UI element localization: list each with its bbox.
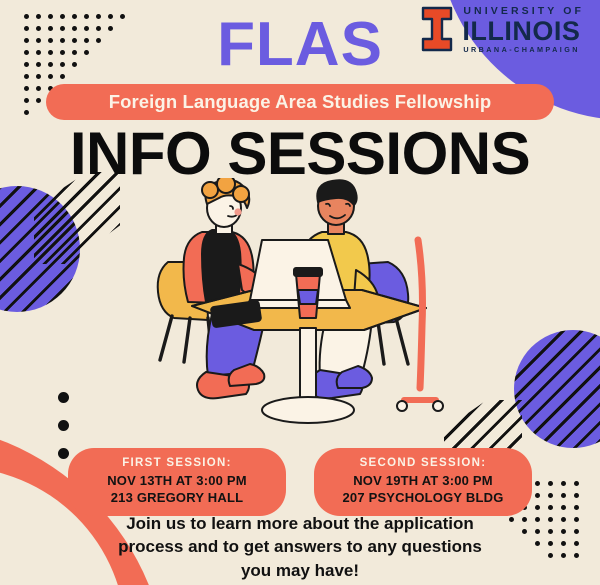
session-heading: SECOND SESSION: bbox=[334, 455, 512, 472]
decorative-dot bbox=[24, 98, 29, 103]
session-card-first: FIRST SESSION: NOV 13TH AT 3:00 PM 213 G… bbox=[68, 448, 286, 516]
decorative-dot bbox=[24, 110, 29, 115]
university-logo: UNIVERSITY OF ILLINOIS URBANA-CHAMPAIGN bbox=[420, 6, 584, 53]
purple-striped-circle-right bbox=[514, 330, 600, 448]
footer-line-2: process and to get answers to any questi… bbox=[76, 535, 524, 558]
footer-line-3: you may have! bbox=[76, 559, 524, 582]
decorative-dot bbox=[36, 86, 41, 91]
session-list: FIRST SESSION: NOV 13TH AT 3:00 PM 213 G… bbox=[0, 448, 600, 516]
decorative-dot bbox=[24, 86, 29, 91]
page-title: INFO SESSIONS bbox=[0, 122, 600, 185]
logo-campus-line: URBANA-CHAMPAIGN bbox=[463, 46, 584, 53]
footer-line-1: Join us to learn more about the applicat… bbox=[76, 512, 524, 535]
subtitle-text: Foreign Language Area Studies Fellowship bbox=[109, 91, 492, 113]
poster-canvas: UNIVERSITY OF ILLINOIS URBANA-CHAMPAIGN … bbox=[0, 0, 600, 585]
footer-message: Join us to learn more about the applicat… bbox=[0, 512, 600, 582]
decorative-dot bbox=[58, 392, 69, 403]
subtitle-pill: Foreign Language Area Studies Fellowship bbox=[46, 84, 554, 120]
session-heading: FIRST SESSION: bbox=[88, 455, 266, 472]
block-i-icon bbox=[420, 6, 454, 52]
meeting-illustration bbox=[150, 178, 470, 436]
decorative-dot bbox=[36, 98, 41, 103]
logo-university-line: UNIVERSITY OF bbox=[463, 6, 584, 17]
decorative-dot bbox=[58, 420, 69, 431]
logo-institution-line: ILLINOIS bbox=[462, 18, 584, 45]
session-location: 207 PSYCHOLOGY BLDG bbox=[334, 489, 512, 507]
logo-wordmark: UNIVERSITY OF ILLINOIS URBANA-CHAMPAIGN bbox=[463, 6, 584, 53]
session-datetime: NOV 19TH AT 3:00 PM bbox=[334, 472, 512, 490]
session-card-second: SECOND SESSION: NOV 19TH AT 3:00 PM 207 … bbox=[314, 448, 532, 516]
session-location: 213 GREGORY HALL bbox=[88, 489, 266, 507]
session-datetime: NOV 13TH AT 3:00 PM bbox=[88, 472, 266, 490]
